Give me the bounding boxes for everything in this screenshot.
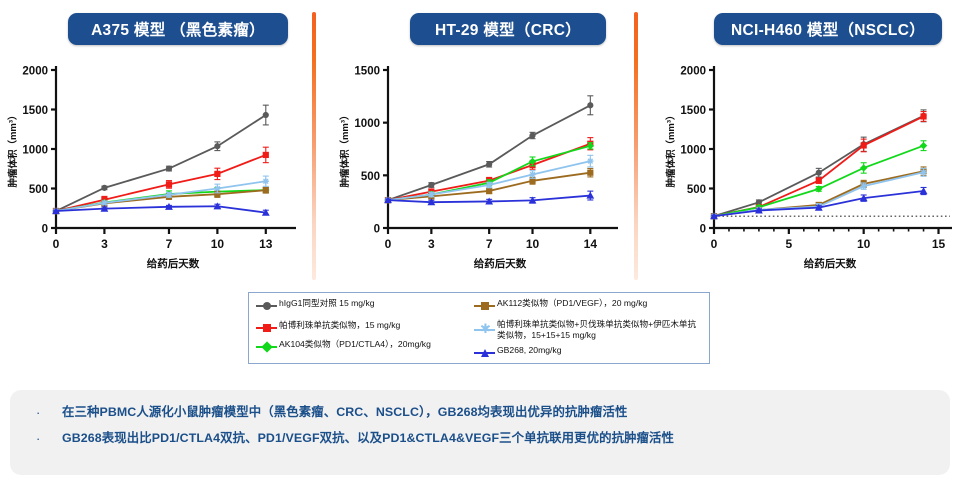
- x-axis-title: 给药后天数: [147, 257, 200, 270]
- y-tick-label: 1500: [22, 105, 48, 117]
- legend-column-left: hIgG1同型对照 15 mg/kg 帕博利珠单抗类似物，15 mg/kg AK…: [255, 298, 473, 363]
- series-1: [53, 147, 269, 214]
- legend-marker-square-brown: [473, 299, 497, 312]
- legend-item-triple-combo: ✱ 帕博利珠单抗类似物+贝伐珠单抗类似物+伊匹木单抗类似物，15+15+15 m…: [473, 319, 705, 340]
- y-tick-label: 500: [361, 171, 380, 183]
- legend-label-ak104: AK104类似物（PD1/CTLA4），20mg/kg: [279, 339, 431, 350]
- y-tick-label: 2000: [680, 66, 706, 78]
- conclusion-bullet-1: · 在三种PBMC人源化小鼠肿瘤模型中（黑色素瘤、CRC、NSCLC），GB26…: [32, 404, 950, 421]
- chart-svg: 0500100015000371014肿瘤体积（mm³）给药后天数: [330, 56, 630, 286]
- chart-panel-nci-h460: 0500100015002000051015肿瘤体积（mm³）给药后天数: [652, 56, 960, 286]
- legend-marker-triangle-blue: [473, 346, 497, 359]
- legend-column-right: AK112类似物（PD1/VEGF），20 mg/kg ✱ 帕博利珠单抗类似物+…: [473, 298, 705, 363]
- y-tick-label: 1000: [680, 145, 706, 157]
- y-tick-label: 0: [700, 224, 706, 236]
- x-axis-title: 给药后天数: [474, 257, 527, 270]
- bullet-icon: ·: [32, 430, 62, 447]
- legend-item-ak112: AK112类似物（PD1/VEGF），20 mg/kg: [473, 298, 705, 312]
- y-tick-label: 0: [374, 224, 380, 236]
- x-tick-label: 13: [259, 237, 273, 251]
- y-tick-label: 1500: [680, 105, 706, 117]
- y-tick-label: 1000: [22, 145, 48, 157]
- panel-title-ht29: HT-29 模型（CRC）: [410, 13, 606, 45]
- y-tick-label: 1500: [354, 66, 380, 78]
- legend-marker-circle-gray: [255, 299, 279, 312]
- panel-title-a375: A375 模型 （黑色素瘤）: [68, 13, 288, 45]
- y-axis-title: 肿瘤体积（mm³）: [339, 110, 351, 187]
- chart-svg: 0500100015002000051015肿瘤体积（mm³）给药后天数: [652, 56, 960, 286]
- y-axis-title: 肿瘤体积（mm³）: [665, 110, 677, 187]
- vertical-divider-2: [634, 12, 638, 280]
- legend-item-gb268: GB268, 20mg/kg: [473, 345, 705, 359]
- legend-item-pembrolizumab: 帕博利珠单抗类似物，15 mg/kg: [255, 320, 473, 334]
- legend-item-higg1: hIgG1同型对照 15 mg/kg: [255, 298, 473, 312]
- x-tick-label: 0: [385, 237, 392, 251]
- x-tick-label: 3: [428, 237, 435, 251]
- conclusion-bullet-2: · GB268表现出比PD1/CTLA4双抗、PD1/VEGF双抗、以及PD1&…: [32, 430, 950, 447]
- legend-label-higg1: hIgG1同型对照 15 mg/kg: [279, 298, 375, 309]
- panel-title-nci-h460: NCI-H460 模型（NSCLC）: [714, 13, 942, 45]
- legend-marker-diamond-green: [255, 340, 279, 353]
- x-tick-label: 14: [584, 237, 598, 251]
- conclusion-text-2: GB268表现出比PD1/CTLA4双抗、PD1/VEGF双抗、以及PD1&CT…: [62, 430, 674, 447]
- x-tick-label: 0: [711, 237, 718, 251]
- x-tick-label: 10: [526, 237, 540, 251]
- chart-panel-a375: 05001000150020000371013肿瘤体积（mm³）给药后天数: [0, 56, 312, 286]
- chart-panel-ht29: 0500100015000371014肿瘤体积（mm³）给药后天数: [330, 56, 630, 286]
- conclusion-text-1: 在三种PBMC人源化小鼠肿瘤模型中（黑色素瘤、CRC、NSCLC），GB268均…: [62, 404, 627, 421]
- x-tick-label: 15: [932, 237, 946, 251]
- x-tick-label: 0: [53, 237, 60, 251]
- panel-title-row: A375 模型 （黑色素瘤） HT-29 模型（CRC） NCI-H460 模型…: [0, 0, 960, 56]
- y-tick-label: 2000: [22, 66, 48, 78]
- x-tick-label: 3: [101, 237, 108, 251]
- bullet-icon: ·: [32, 404, 62, 421]
- x-axis-title: 给药后天数: [804, 257, 857, 270]
- x-tick-label: 5: [785, 237, 792, 251]
- y-tick-label: 500: [29, 184, 48, 196]
- y-tick-label: 0: [42, 224, 48, 236]
- chart-svg: 05001000150020000371013肿瘤体积（mm³）给药后天数: [0, 56, 312, 286]
- y-axis-title: 肿瘤体积（mm³）: [7, 110, 19, 187]
- y-tick-label: 500: [687, 184, 706, 196]
- x-tick-label: 10: [211, 237, 225, 251]
- legend-marker-square-red: [255, 321, 279, 334]
- legend-item-ak104: AK104类似物（PD1/CTLA4），20mg/kg: [255, 339, 473, 353]
- x-tick-label: 7: [486, 237, 493, 251]
- x-tick-label: 10: [857, 237, 871, 251]
- y-tick-label: 1000: [354, 118, 380, 130]
- vertical-divider-1: [312, 12, 316, 280]
- legend-label-pembrolizumab: 帕博利珠单抗类似物，15 mg/kg: [279, 320, 400, 331]
- chart-legend: hIgG1同型对照 15 mg/kg 帕博利珠单抗类似物，15 mg/kg AK…: [248, 292, 710, 364]
- legend-label-gb268: GB268, 20mg/kg: [497, 345, 562, 356]
- x-tick-label: 7: [166, 237, 173, 251]
- legend-label-triple-combo: 帕博利珠单抗类似物+贝伐珠单抗类似物+伊匹木单抗类似物，15+15+15 mg/…: [497, 319, 702, 340]
- legend-marker-star-lightblue: ✱: [473, 323, 497, 336]
- conclusion-box: · 在三种PBMC人源化小鼠肿瘤模型中（黑色素瘤、CRC、NSCLC），GB26…: [10, 390, 950, 475]
- legend-label-ak112: AK112类似物（PD1/VEGF），20 mg/kg: [497, 298, 647, 309]
